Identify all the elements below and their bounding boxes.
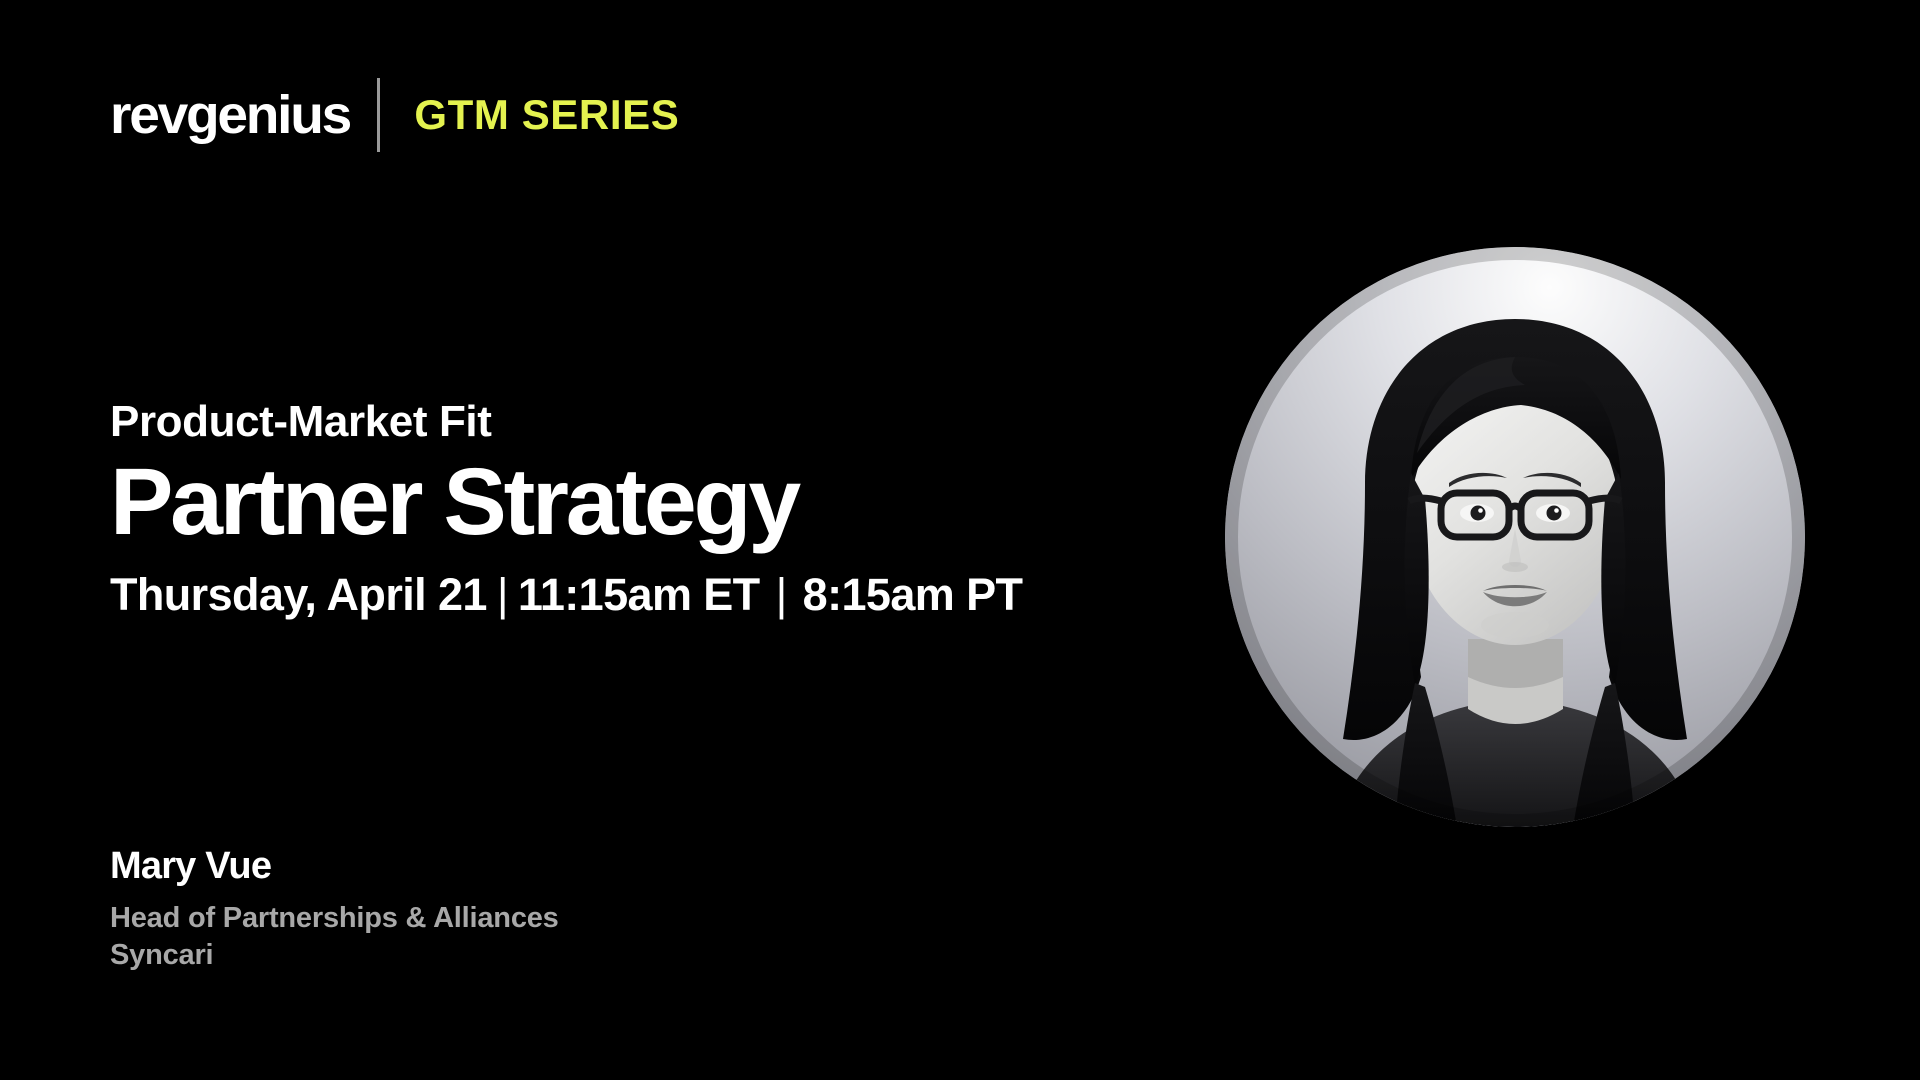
page-title: Partner Strategy [110,454,1120,551]
speaker-name: Mary Vue [110,845,870,888]
headshot-illustration [1225,247,1805,827]
speaker-company: Syncari [110,937,870,974]
speaker-headshot-avatar [1225,247,1805,827]
brand-divider-rule [377,78,380,152]
schedule-line: Thursday, April 21 | 11:15am ET | 8:15am… [110,570,1120,620]
gtm-series-label: GTM SERIES [414,94,679,136]
eyebrow-text: Product-Market Fit [110,398,1120,446]
schedule-time-pt: 8:15am PT [803,570,1023,620]
schedule-day-date: Thursday, April 21 [110,570,487,620]
schedule-separator-2: | [760,570,803,620]
headline-block: Product-Market Fit Partner Strategy Thur… [110,398,1120,620]
schedule-time-et: 11:15am ET [518,570,760,620]
speaker-role: Head of Partnerships & Alliances [110,900,870,937]
revgenius-logo[interactable]: revgenius [110,88,350,142]
webinar-promo-slide: revgenius GTM SERIES Product-Market Fit … [0,0,1920,1080]
brand-bar: revgenius GTM SERIES [110,78,679,152]
schedule-separator-1: | [487,570,518,620]
speaker-block: Mary Vue Head of Partnerships & Alliance… [110,845,870,974]
